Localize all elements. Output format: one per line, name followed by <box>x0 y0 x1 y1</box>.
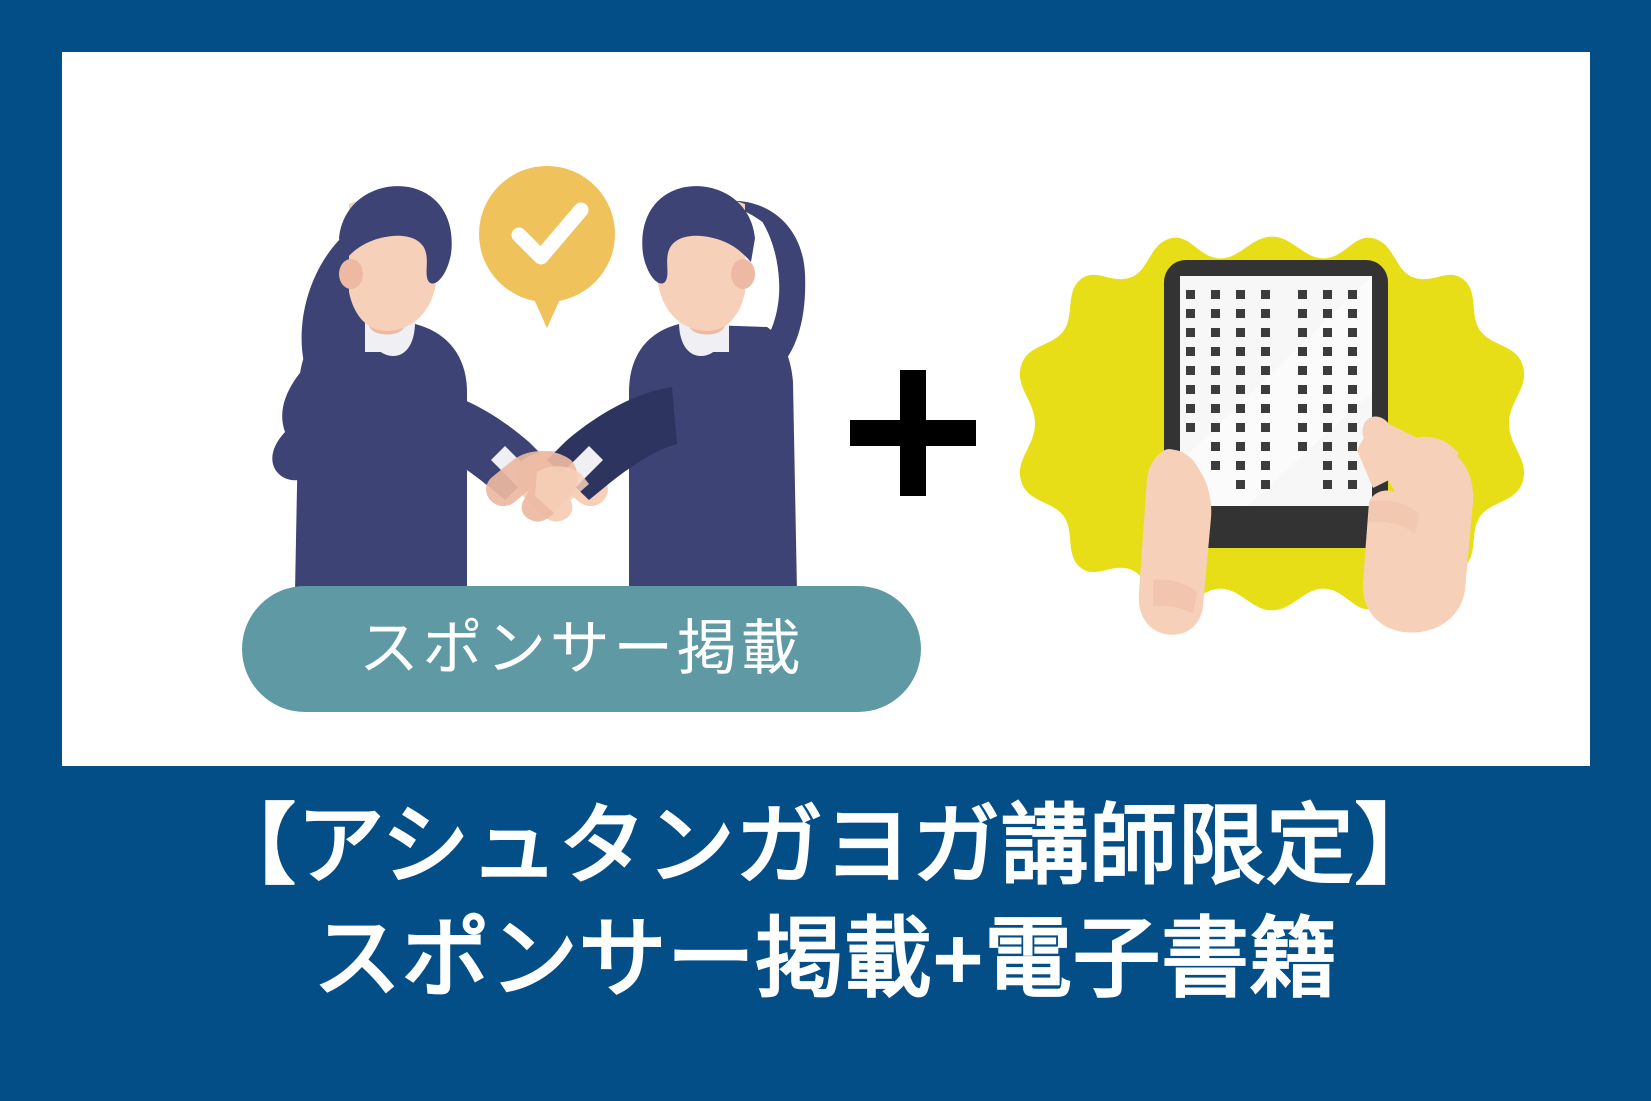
promo-banner: スポンサー掲載 【アシュタンガヨガ講師限定】 スポンサー掲載+電子書籍 <box>0 0 1651 1101</box>
check-bubble-icon <box>479 166 615 328</box>
sponsor-badge: スポンサー掲載 <box>242 586 921 712</box>
handshake-illustration <box>247 142 847 592</box>
plus-icon <box>850 370 976 496</box>
tablet-ereader-illustration <box>1017 162 1527 672</box>
title-block: 【アシュタンガヨガ講師限定】 スポンサー掲載+電子書籍 <box>0 772 1651 1101</box>
title-line-2: スポンサー掲載+電子書籍 <box>313 903 1338 1016</box>
illustration-panel: スポンサー掲載 <box>62 52 1590 766</box>
sponsor-badge-label: スポンサー掲載 <box>359 619 804 679</box>
title-line-1: 【アシュタンガヨガ講師限定】 <box>208 790 1443 903</box>
